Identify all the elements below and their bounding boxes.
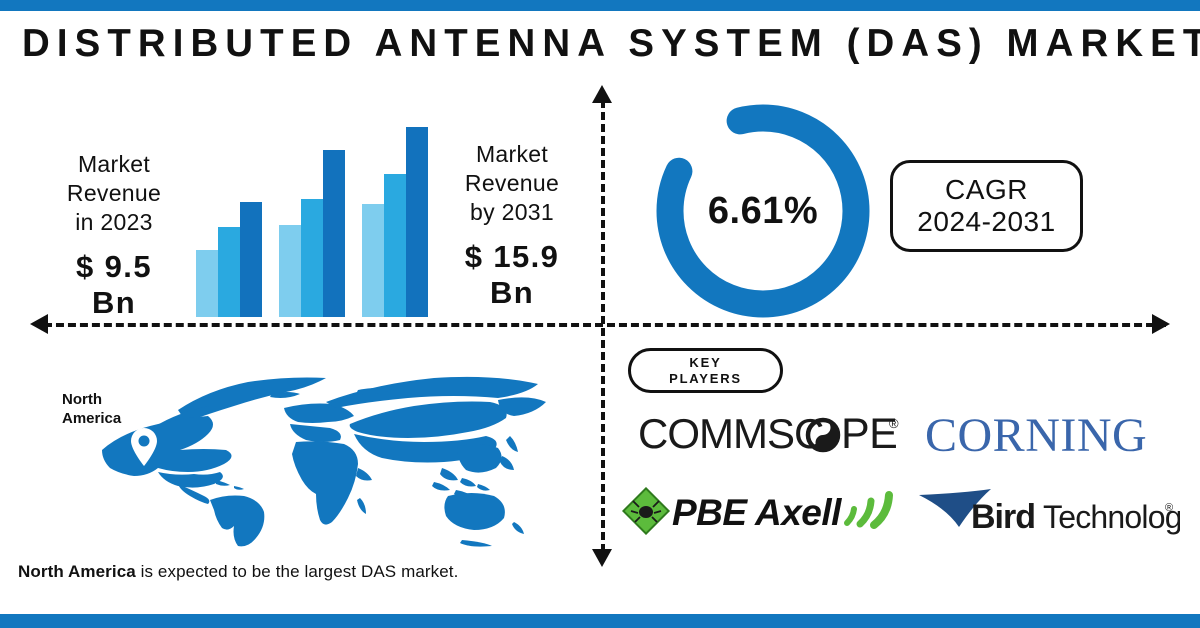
top-brand-bar [0,0,1200,11]
market-revenue-2023-caption: Market Revenue in 2023 [30,150,198,237]
market-revenue-2023-block: Market Revenue in 2023 $ 9.5 Bn [30,150,198,321]
footnote-bold: North America [18,562,136,581]
cagr-label-box: CAGR 2024-2031 [890,160,1083,252]
bar-dark [323,150,345,317]
bird-logo-svg: Bird Technologies ® [915,487,1180,535]
footnote-rest: is expected to be the largest DAS market… [136,562,459,581]
pbe-diamond-icon [623,488,668,533]
vertical-divider [601,100,605,552]
commscope-wordmark: COMMSC [638,412,823,457]
bar-mid [218,227,240,317]
logo-corning: CORNING [925,412,1175,458]
logo-pbe-axell: PBE Axell [622,487,907,535]
page-title: DISTRIBUTED ANTENNA SYSTEM (DAS) MARKET [22,20,1165,68]
cagr-period: 2024-2031 [917,205,1055,238]
pbe-axell-logo-svg: PBE Axell [622,487,907,535]
commscope-registered-mark: ® [889,416,899,431]
bar-light [196,250,218,317]
bottom-brand-bar [0,614,1200,628]
bar-dark [406,127,428,317]
infographic-root: DISTRIBUTED ANTENNA SYSTEM (DAS) MARKET … [0,0,1200,628]
corning-wordmark: CORNING [925,408,1147,463]
key-players-line2: PLAYERS [669,371,742,387]
arrow-up-icon [592,85,612,103]
key-players-line1: KEY [689,355,721,371]
bar-group [362,112,429,317]
cagr-title: CAGR [945,174,1028,205]
bar-mid [301,199,323,317]
key-players-pill: KEY PLAYERS [628,348,783,393]
market-revenue-2023-value: $ 9.5 Bn [30,249,198,321]
arrow-down-icon [592,549,612,567]
donut-value-label: 6.61% [652,100,874,322]
cagr-donut-chart: 6.61% [652,100,874,322]
commscope-logo-svg: COMMSC PE ® [638,412,906,458]
bar-group [279,112,346,317]
horizontal-divider [44,323,1166,327]
pbe-axell-wordmark: PBE Axell [672,492,842,533]
map-region-label: North America [62,390,182,428]
arrow-right-icon [1152,314,1170,334]
bar-light [279,225,301,317]
bar-group [196,112,263,317]
bird-wordmark-bold: Bird [971,498,1035,535]
bird-wordmark-regular: Technologies [1043,499,1180,535]
bar-mid [384,174,406,318]
logo-commscope: COMMSC PE ® [638,412,908,458]
revenue-bar-chart [196,112,428,317]
bar-dark [240,202,262,317]
bar-light [362,204,384,317]
pbe-signal-waves-icon [847,495,889,525]
market-revenue-2031-value: $ 15.9 Bn [428,239,596,311]
logo-bird-technologies: Bird Technologies ® [915,487,1180,535]
bird-registered-mark: ® [1165,502,1173,514]
footnote: North America is expected to be the larg… [18,562,458,582]
market-revenue-2031-caption: Market Revenue by 2031 [428,140,596,227]
market-revenue-2031-block: Market Revenue by 2031 $ 15.9 Bn [428,140,596,311]
